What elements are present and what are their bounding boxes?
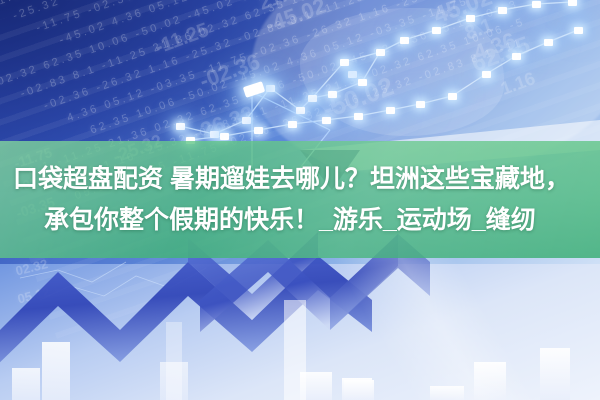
chart-node-glow	[322, 117, 331, 124]
headline-band: 口袋超盘配资 暑期遛娃去哪儿？坦洲这些宝藏地， 承包你整个假期的快乐！_游乐_运…	[0, 141, 600, 258]
chart-node-glow	[348, 71, 357, 78]
chart-node-glow	[308, 95, 317, 102]
chart-node-glow	[242, 117, 251, 124]
chart-node-glow	[432, 27, 441, 34]
chart-node-glow	[498, 7, 507, 14]
headline-line-2: 承包你整个假期的快乐！_游乐_运动场_缝纫	[0, 200, 600, 241]
chart-node-glow	[512, 53, 521, 60]
chart-node-glow	[220, 133, 229, 140]
chart-node-glow	[266, 85, 275, 92]
chart-node-glow	[386, 107, 395, 114]
chart-node-glow	[254, 127, 263, 134]
chart-node-glow	[574, 27, 583, 34]
banner-image: -50.02 -45.02 4.36 05.12 -03.35 -11.75 -…	[0, 0, 600, 400]
chart-node-glow	[354, 113, 363, 120]
chart-node-glow	[176, 123, 185, 130]
chart-node-glow	[568, 0, 577, 6]
chart-node-glow	[532, 1, 541, 8]
chart-node-glow	[296, 107, 305, 114]
chart-node-glow	[340, 59, 349, 66]
chart-node-glow	[544, 39, 553, 46]
chart-node-glow	[482, 71, 491, 78]
chart-node-glow	[288, 121, 297, 128]
chart-node-glow	[358, 79, 367, 86]
chart-node-glow	[448, 93, 457, 100]
chart-node-glow	[400, 37, 409, 44]
headline-line-1: 口袋超盘配资 暑期遛娃去哪儿？坦洲这些宝藏地，	[0, 159, 600, 200]
chart-node-glow	[210, 131, 219, 138]
chart-node-glow	[376, 49, 385, 56]
chart-node-glow	[466, 15, 475, 22]
chart-node-glow	[416, 101, 425, 108]
chart-node-glow	[328, 91, 337, 98]
